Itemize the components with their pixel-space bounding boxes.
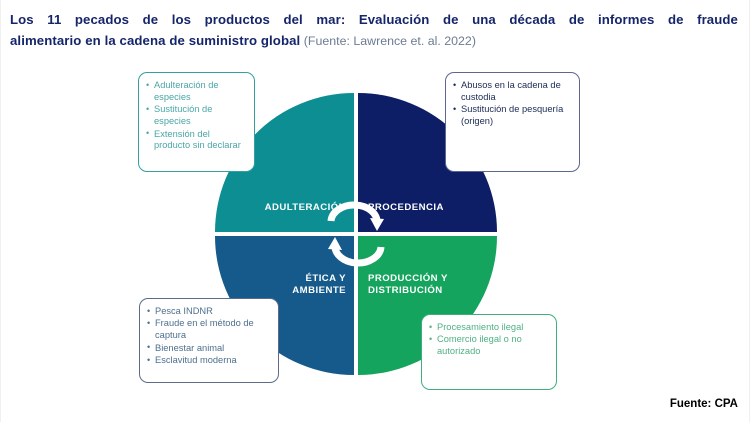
list-item: Abusos en la cadena de custodia	[453, 80, 573, 104]
list-item: Pesca INDNR	[147, 306, 272, 318]
list-item: Adulteración de especies	[146, 80, 248, 104]
callout-list-etica-ambiente: Pesca INDNR Fraude en el método de captu…	[147, 306, 272, 367]
quadrant-label-produccion-distribucion: PRODUCCIÓN Y DISTRIBUCIÓN	[368, 273, 448, 297]
page-title-citation: (Fuente: Lawrence et. al. 2022)	[300, 34, 476, 48]
callout-list-adulteracion: Adulteración de especies Sustitución de …	[146, 80, 248, 152]
page-title-line-1: Los 11 pecados de los productos del mar:…	[10, 10, 738, 29]
list-item: Bienestar animal	[147, 343, 272, 355]
callout-adulteracion: Adulteración de especies Sustitución de …	[138, 72, 255, 172]
page-title: Los 11 pecados de los productos del mar:…	[10, 10, 738, 52]
callout-list-procedencia: Abusos en la cadena de custodia Sustituc…	[453, 80, 573, 128]
callout-etica-ambiente: Pesca INDNR Fraude en el método de captu…	[139, 298, 279, 383]
callout-produccion-distribucion: Procesamiento ilegal Comercio ilegal o n…	[421, 314, 557, 390]
quadrant-label-etica-ambiente: ÉTICA Y AMBIENTE	[292, 273, 346, 297]
page-title-line-2: alimentario en la cadena de suministro g…	[10, 29, 738, 52]
callout-procedencia: Abusos en la cadena de custodia Sustituc…	[445, 72, 580, 172]
footer-source: Fuente: CPA	[670, 398, 738, 410]
list-item: Procesamiento ilegal	[429, 322, 550, 334]
callout-list-produccion-distribucion: Procesamiento ilegal Comercio ilegal o n…	[429, 322, 550, 358]
cycle-arrows-icon	[321, 197, 391, 271]
list-item: Sustitución de pesquería (origen)	[453, 104, 573, 128]
list-item: Esclavitud moderna	[147, 355, 272, 367]
list-item: Comercio ilegal o no autorizado	[429, 334, 550, 358]
seafood-fraud-diagram: ADULTERACIÓN PROCEDENCIA ÉTICA Y AMBIENT…	[0, 62, 750, 392]
list-item: Fraude en el método de captura	[147, 318, 272, 342]
page-title-line-2-main: alimentario en la cadena de suministro g…	[10, 33, 300, 48]
list-item: Sustitución de especies	[146, 104, 248, 128]
list-item: Extensión del producto sin declarar	[146, 129, 248, 153]
